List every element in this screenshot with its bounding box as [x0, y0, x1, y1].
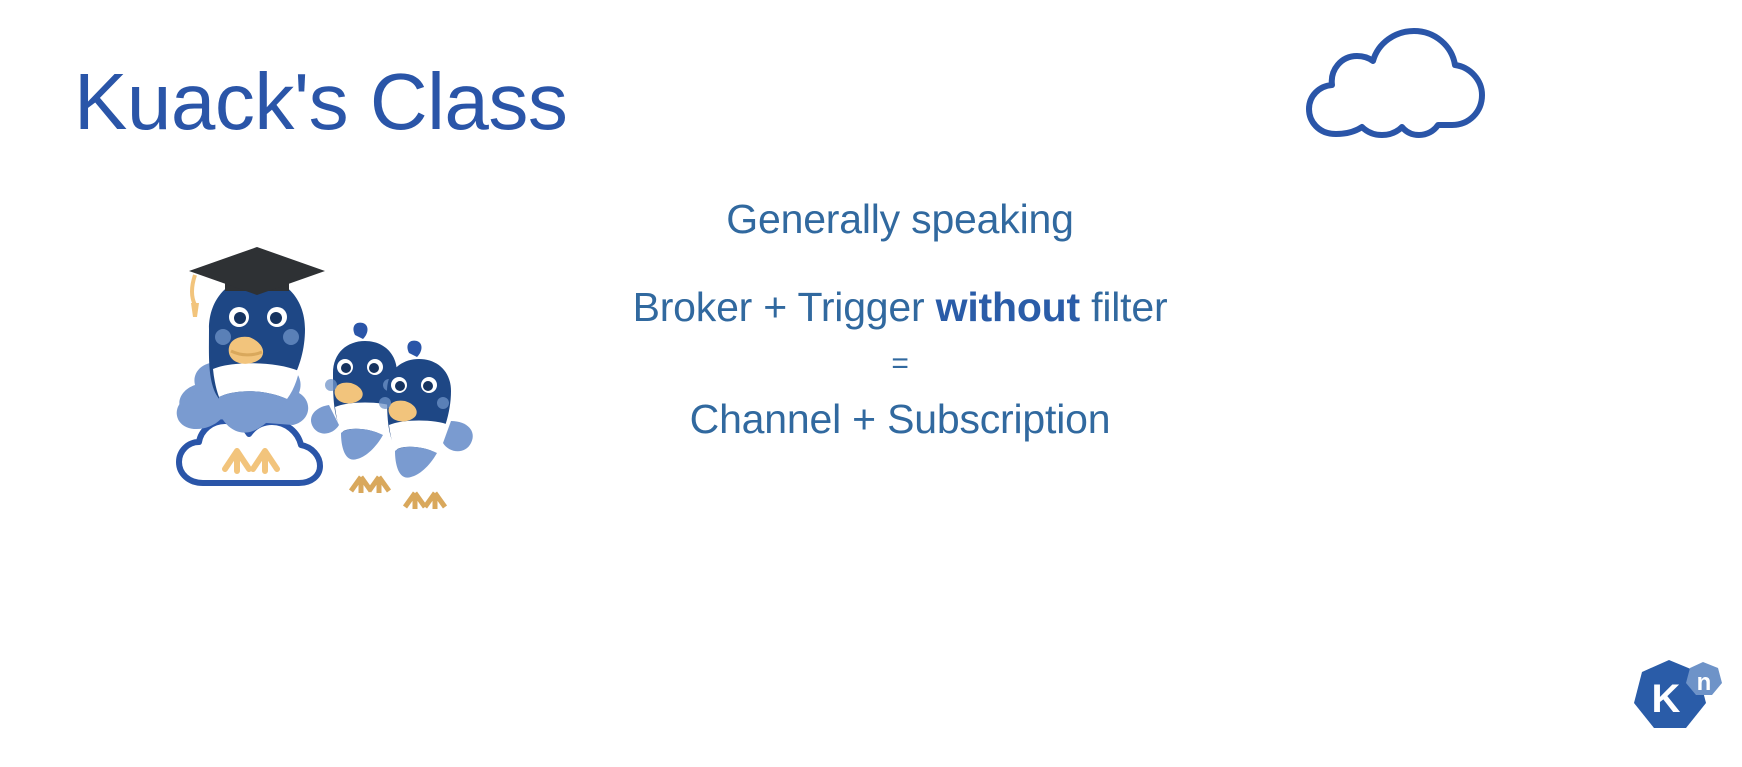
body-line-1: Generally speaking — [540, 195, 1260, 243]
body-line-2-emphasis: without — [936, 284, 1080, 330]
page-title: Kuack's Class — [74, 62, 567, 142]
logo-primary-letter: K — [1652, 677, 1681, 721]
body-line-2-post: filter — [1080, 284, 1167, 330]
mascot-illustration — [165, 225, 505, 515]
body-line-4: Channel + Subscription — [540, 395, 1260, 443]
logo-secondary-letter: n — [1697, 669, 1712, 696]
body-line-equals: = — [540, 346, 1260, 381]
knative-logo: K n — [1620, 650, 1740, 762]
body-line-2: Broker + Trigger without filter — [540, 283, 1260, 331]
cloud-icon — [1306, 28, 1486, 143]
body-line-2-pre: Broker + Trigger — [633, 284, 936, 330]
body-text-block: Generally speaking Broker + Trigger with… — [540, 195, 1260, 444]
